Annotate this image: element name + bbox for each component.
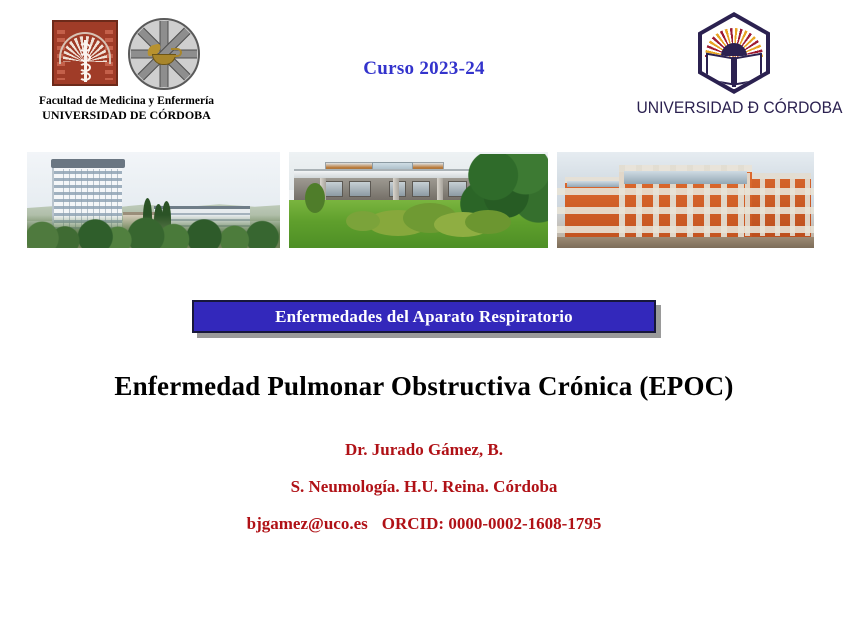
author-email[interactable]: bjgamez@uco.es bbox=[247, 514, 368, 533]
campus-photo-strip bbox=[27, 152, 822, 248]
faculty-name-line2: UNIVERSIDAD DE CÓRDOBA bbox=[24, 108, 229, 123]
author-name: Dr. Jurado Gámez, B. bbox=[0, 440, 848, 460]
author-orcid: ORCID: 0000-0002-1608-1795 bbox=[382, 514, 602, 533]
campus-modern-building-photo bbox=[289, 152, 548, 248]
author-affiliation: S. Neumología. H.U. Reina. Córdoba bbox=[0, 477, 848, 497]
subject-banner: Enfermedades del Aparato Respiratorio bbox=[192, 300, 656, 333]
banner-box: Enfermedades del Aparato Respiratorio bbox=[192, 300, 656, 333]
faculty-logo-caption: Facultad de Medicina y Enfermería UNIVER… bbox=[24, 94, 229, 123]
banner-label: Enfermedades del Aparato Respiratorio bbox=[275, 307, 573, 327]
university-logo-caption: UNIVERSIDAD Ð CÓRDOBA bbox=[636, 98, 831, 118]
faculty-name-line1: Facultad de Medicina y Enfermería bbox=[24, 94, 229, 108]
page-title: Enfermedad Pulmonar Obstructiva Crónica … bbox=[0, 371, 848, 402]
university-logo: UNIVERSIDAD Ð CÓRDOBA bbox=[628, 12, 840, 130]
slide-header: Facultad de Medicina y Enfermería UNIVER… bbox=[0, 0, 848, 140]
campus-orange-building-photo bbox=[557, 152, 814, 248]
uco-hexagon-sunburst-book-icon bbox=[698, 12, 770, 94]
campus-panorama-photo bbox=[27, 152, 280, 248]
author-contact: bjgamez@uco.esORCID: 0000-0002-1608-1795 bbox=[0, 514, 848, 534]
author-block: Dr. Jurado Gámez, B. S. Neumología. H.U.… bbox=[0, 440, 848, 534]
